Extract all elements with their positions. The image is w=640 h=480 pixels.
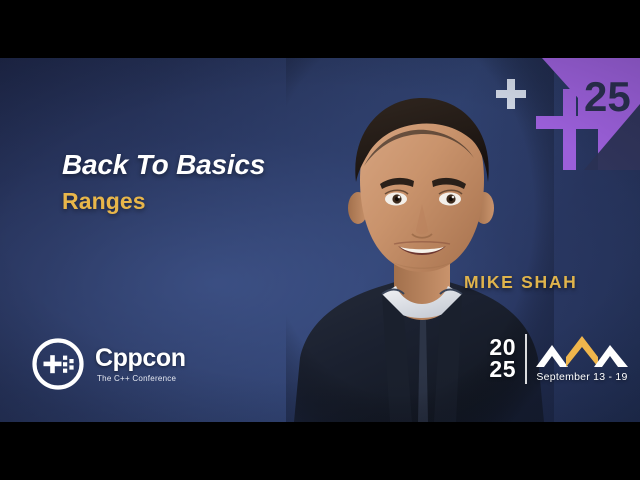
cppcon-wordmark-group: Cppcon The C++ Conference <box>95 346 186 383</box>
cpp25-corner-graphic: 25 <box>480 58 640 170</box>
cppcon-logo: Cppcon The C++ Conference <box>30 336 186 392</box>
speaker-name: MIKE SHAH <box>464 272 578 293</box>
letterbox-bottom <box>0 422 640 480</box>
title-block: Back To Basics Ranges <box>62 150 362 215</box>
slide-frame: 25 Back To Basics Ranges MIKE SHAH <box>0 58 640 422</box>
badge-right-group: September 13 - 19 <box>536 336 628 383</box>
cppcon-tagline: The C++ Conference <box>97 375 176 383</box>
conference-dates: September 13 - 19 <box>536 371 627 383</box>
letterbox-top <box>0 0 640 58</box>
mountain-chevrons-icon <box>536 336 628 367</box>
page-subtitle: Ranges <box>62 189 362 214</box>
page-title: Back To Basics <box>62 150 362 180</box>
title-card: 25 Back To Basics Ranges MIKE SHAH <box>0 0 640 480</box>
conference-date-badge: 20 25 September 13 - 19 <box>489 334 628 384</box>
cppcon-circle-plus-icon <box>30 336 86 392</box>
badge-divider <box>525 334 527 384</box>
small-plus-icon <box>496 79 526 109</box>
cppcon-wordmark: Cppcon <box>95 346 186 371</box>
year-bottom: 25 <box>489 359 516 381</box>
cpp25-number: 25 <box>584 73 631 120</box>
year-stack: 20 25 <box>489 337 516 380</box>
